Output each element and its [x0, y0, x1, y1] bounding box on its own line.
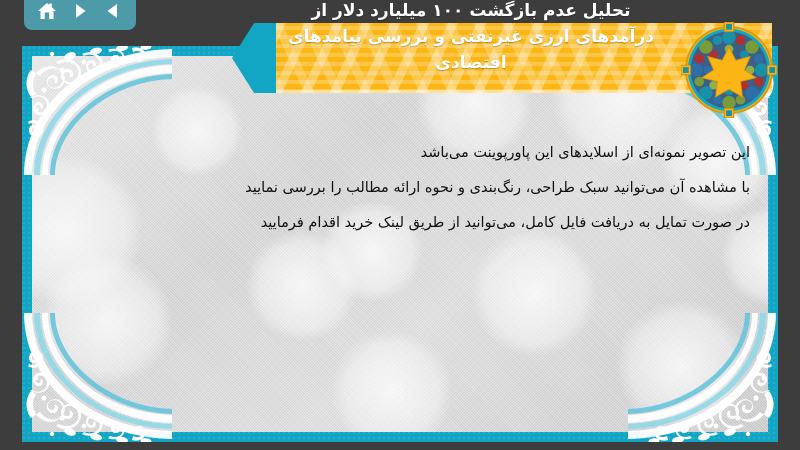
content-area — [32, 56, 768, 432]
forward-arrow-icon[interactable] — [67, 0, 93, 22]
slide-body-text: این تصویر نمونه‌ای از اسلایدهای این پاور… — [60, 136, 750, 241]
bokeh-circle — [617, 301, 747, 431]
presentation-slide: تحلیل عدم بازگشت ۱۰۰ میلیارد دلار از درآ… — [0, 0, 800, 450]
bokeh-circle — [472, 231, 597, 356]
home-icon[interactable] — [34, 0, 60, 22]
body-line: در صورت تمایل به دریافت فایل کامل، می‌تو… — [60, 206, 750, 241]
bokeh-circle — [42, 256, 172, 386]
persian-medallion-icon — [681, 22, 777, 118]
navigation-toolbar[interactable] — [24, 0, 136, 30]
bokeh-circle — [332, 331, 452, 432]
page-title: تحلیل عدم بازگشت ۱۰۰ میلیارد دلار از درآ… — [236, 0, 706, 76]
body-line: با مشاهده آن می‌توانید سبک طراحی، رنگ‌بن… — [60, 171, 750, 206]
back-arrow-icon[interactable] — [100, 0, 126, 22]
bokeh-circle — [247, 231, 357, 341]
body-line: این تصویر نمونه‌ای از اسلایدهای این پاور… — [60, 136, 750, 171]
